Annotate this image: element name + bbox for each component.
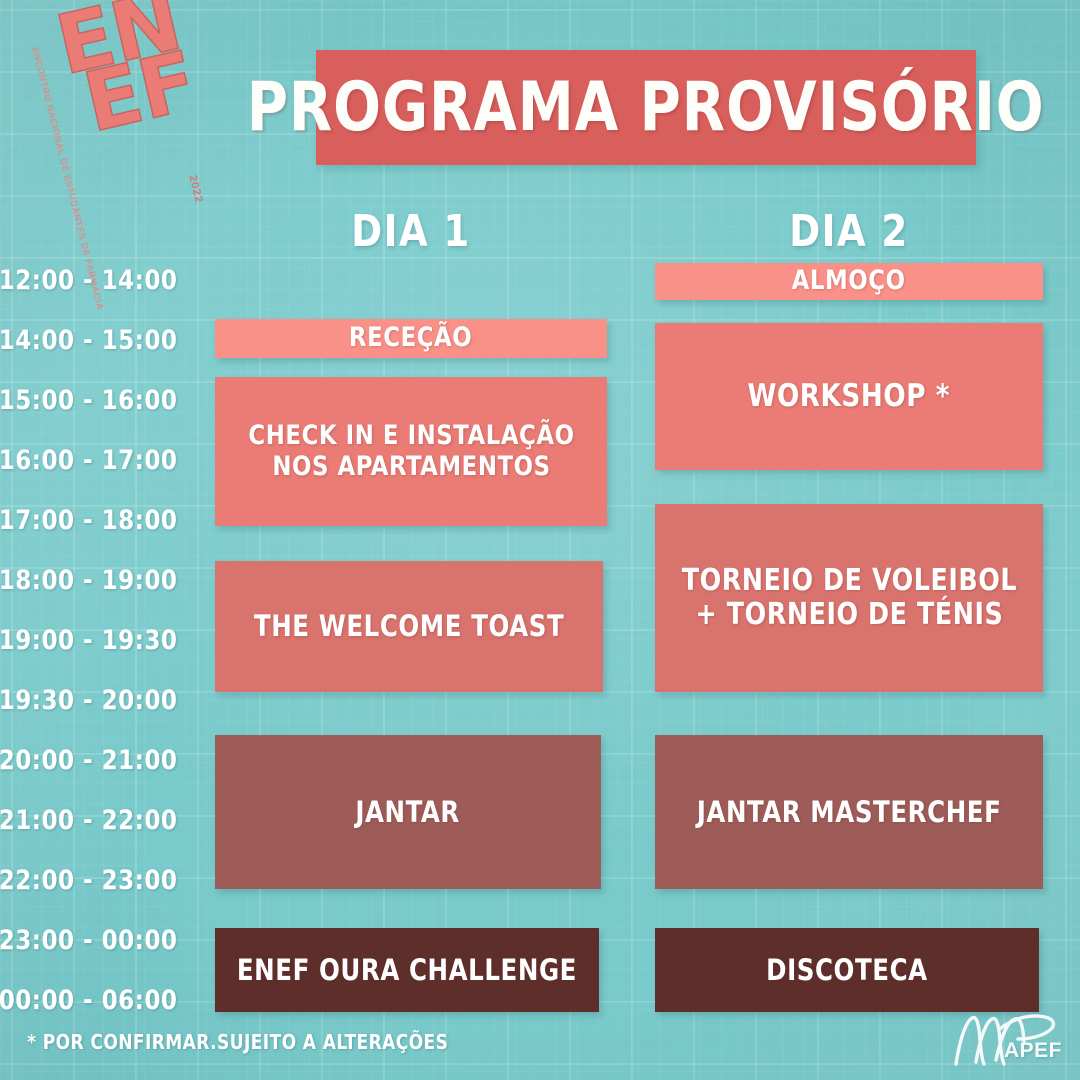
time-label: 22:00 - 23:00 [0,865,177,896]
schedule-block-day2-almoco: ALMOÇO [655,263,1043,300]
time-slot: 15:00 - 16:00 [0,370,200,430]
schedule-block-day1-check-in: CHECK IN E INSTALAÇÃO NOS APARTAMENTOS [215,377,607,526]
enef-logo-year: 2022 [186,174,205,205]
time-slot: 00:00 - 06:00 [0,970,200,1030]
schedule-block-day2-torneios: TORNEIO DE VOLEIBOL + TORNEIO DE TÉNIS [655,504,1043,692]
time-axis-column: 12:00 - 14:00 14:00 - 15:00 15:00 - 16:0… [0,250,200,1030]
time-slot: 20:00 - 21:00 [0,730,200,790]
schedule-block-day1-rececao: RECEÇÃO [215,319,607,358]
column-header-day-1: DIA 1 [227,205,595,257]
time-label: 21:00 - 22:00 [0,805,177,836]
time-label: 17:00 - 18:00 [0,505,177,536]
schedule-block-label: WORKSHOP * [738,379,959,414]
apef-logo: APEF [946,1008,1066,1070]
time-label: 14:00 - 15:00 [0,325,177,356]
schedule-block-day1-oura-challenge: ENEF OURA CHALLENGE [215,928,599,1012]
time-slot: 17:00 - 18:00 [0,490,200,550]
schedule-block-label: JANTAR MASTERCHEF [687,796,1011,828]
time-label: 16:00 - 17:00 [0,445,177,476]
time-slot: 12:00 - 14:00 [0,250,200,310]
time-slot: 22:00 - 23:00 [0,850,200,910]
time-label: 20:00 - 21:00 [0,745,177,776]
time-label: 18:00 - 19:00 [0,565,177,596]
poster-canvas: EN EF ENCONTRO NACIONAL DE ESTUDANTES DE… [0,0,1080,1080]
time-slot: 14:00 - 15:00 [0,310,200,370]
schedule-block-day1-welcome-toast: THE WELCOME TOAST [215,561,603,692]
time-slot: 16:00 - 17:00 [0,430,200,490]
schedule-block-day2-workshop: WORKSHOP * [655,323,1043,470]
enef-logo-letters: EN EF [52,0,201,139]
schedule-block-label: TORNEIO DE VOLEIBOL + TORNEIO DE TÉNIS [672,564,1026,631]
enef-logo-line-2: EF [80,51,201,136]
schedule-block-label: RECEÇÃO [340,323,482,353]
schedule-block-label: CHECK IN E INSTALAÇÃO NOS APARTAMENTOS [239,421,584,481]
time-label: 00:00 - 06:00 [0,985,177,1016]
time-slot: 18:00 - 19:00 [0,550,200,610]
time-slot: 23:00 - 00:00 [0,910,200,970]
schedule-block-label: ENEF OURA CHALLENGE [228,954,587,986]
schedule-block-label: THE WELCOME TOAST [244,610,573,642]
column-header-day-2: DIA 2 [667,205,1032,257]
title-banner: PROGRAMA PROVISÓRIO [316,50,976,165]
time-label: 12:00 - 14:00 [0,265,177,296]
time-label: 15:00 - 16:00 [0,385,177,416]
enef-logo: EN EF ENCONTRO NACIONAL DE ESTUDANTES DE… [24,16,234,231]
time-slot: 21:00 - 22:00 [0,790,200,850]
page-title: PROGRAMA PROVISÓRIO [247,68,1045,147]
schedule-block-day2-discoteca: DISCOTECA [655,928,1039,1012]
schedule-block-label: JANTAR [346,796,469,828]
schedule-block-label: ALMOÇO [783,266,916,296]
schedule-block-label: DISCOTECA [757,954,937,986]
time-label: 19:00 - 19:30 [0,625,177,656]
time-slot: 19:00 - 19:30 [0,610,200,670]
time-label: 19:30 - 20:00 [0,685,177,716]
time-slot: 19:30 - 20:00 [0,670,200,730]
time-label: 23:00 - 00:00 [0,925,177,956]
schedule-block-day2-jantar-masterchef: JANTAR MASTERCHEF [655,735,1043,889]
schedule-block-day1-jantar: JANTAR [215,735,601,889]
footnote-disclaimer: * POR CONFIRMAR.SUJEITO A ALTERAÇÕES [27,1030,448,1054]
apef-wordmark: APEF [1004,1039,1062,1063]
